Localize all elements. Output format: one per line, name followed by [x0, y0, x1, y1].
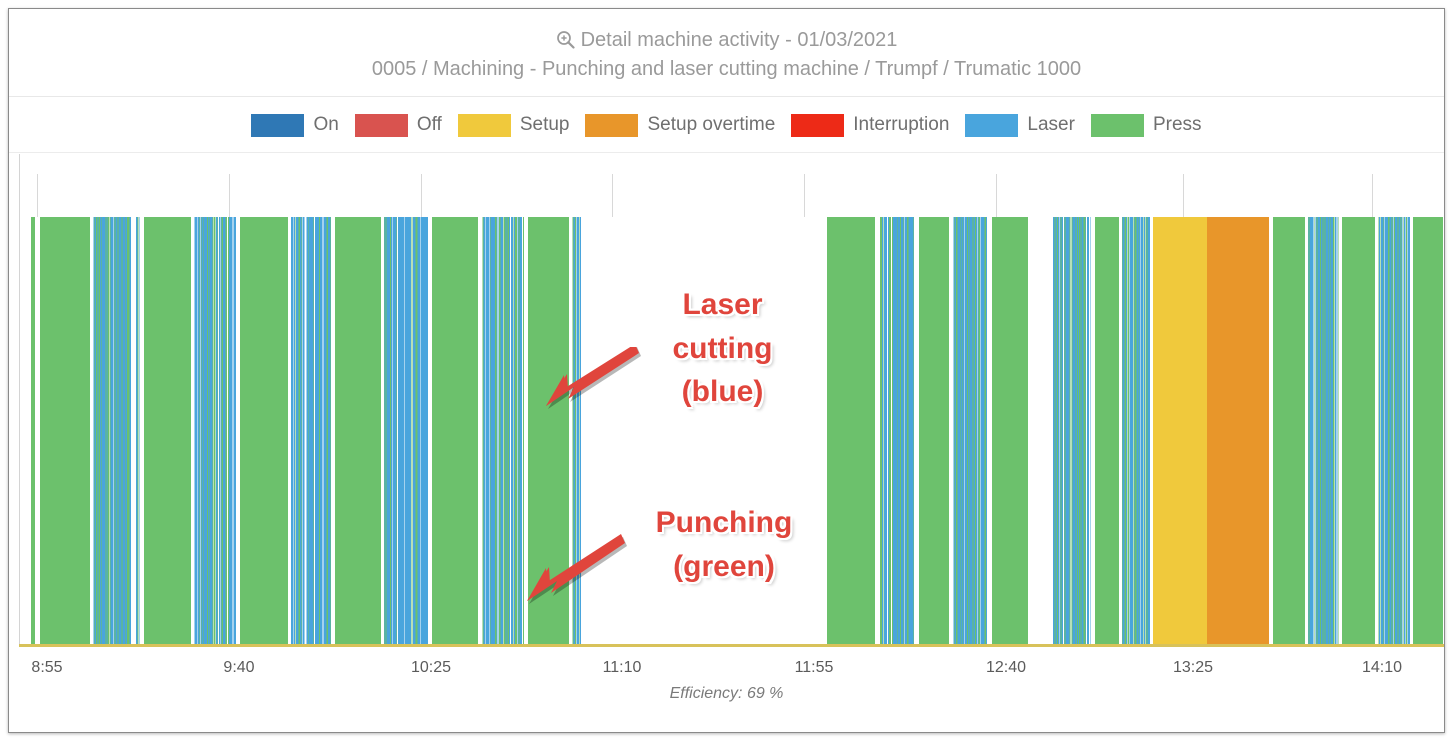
title-block: Detail machine activity - 01/03/2021 000… — [9, 9, 1444, 97]
timeline-segment-laser-press[interactable] — [194, 217, 236, 645]
timeline-segment-laser-press[interactable] — [953, 217, 987, 645]
timeline-segment-press[interactable] — [1413, 217, 1443, 645]
gridline — [1183, 174, 1184, 218]
timeline-segment-press[interactable] — [432, 217, 478, 645]
plot-area — [9, 154, 1444, 657]
timeline-segment-laser-press[interactable] — [93, 217, 131, 645]
x-axis-tick-label: 13:25 — [1173, 659, 1213, 677]
gridline — [804, 174, 805, 218]
timeline-segment-laser-press[interactable] — [384, 217, 428, 645]
legend-swatch-icon — [251, 114, 304, 137]
x-axis-baseline — [19, 644, 1444, 647]
timeline-segment-laser-press[interactable] — [572, 217, 581, 645]
timeline-bars — [19, 217, 1444, 645]
chart-window: Detail machine activity - 01/03/2021 000… — [8, 8, 1445, 733]
legend-item-interruption[interactable]: Interruption — [791, 114, 949, 137]
timeline-segment-press[interactable] — [919, 217, 949, 645]
legend-item-off[interactable]: Off — [355, 114, 442, 137]
x-axis-tick-label: 14:10 — [1362, 659, 1402, 677]
gridline — [229, 174, 230, 218]
timeline-segment-laser-press[interactable] — [291, 217, 331, 645]
chart-title-text: Detail machine activity - 01/03/2021 — [581, 29, 898, 51]
timeline-segment-idle[interactable] — [1028, 217, 1053, 645]
chart-title: Detail machine activity - 01/03/2021 — [9, 28, 1444, 55]
legend-label: Press — [1153, 114, 1202, 136]
legend-label: On — [313, 114, 338, 136]
timeline-segment-press[interactable] — [240, 217, 288, 645]
x-axis-tick-label: 11:10 — [603, 659, 642, 677]
x-axis-tick-label: 11:55 — [795, 659, 834, 677]
legend-item-on[interactable]: On — [251, 114, 338, 137]
chart-legend: OnOffSetupSetup overtimeInterruptionLase… — [9, 98, 1444, 153]
legend-label: Interruption — [853, 114, 949, 136]
timeline-segment-laser-press[interactable] — [1053, 217, 1091, 645]
timeline-segment-press[interactable] — [827, 217, 875, 645]
x-axis-tick-label: 8:55 — [31, 659, 62, 677]
timeline-segment-setup-overtime[interactable] — [1207, 217, 1269, 645]
legend-item-setup-overtime[interactable]: Setup overtime — [585, 114, 775, 137]
legend-swatch-icon — [791, 114, 844, 137]
zoom-in-icon[interactable] — [556, 30, 575, 55]
timeline-segment-laser-press[interactable] — [880, 217, 914, 645]
timeline-segment-press[interactable] — [1342, 217, 1375, 645]
timeline-segment-laser-press[interactable] — [1378, 217, 1410, 645]
legend-swatch-icon — [1091, 114, 1144, 137]
timeline-segment-idle[interactable] — [581, 217, 827, 645]
legend-swatch-icon — [355, 114, 408, 137]
timeline-segment-setup[interactable] — [1153, 217, 1207, 645]
x-axis-tick-label: 9:40 — [223, 659, 254, 677]
timeline-segment-press[interactable] — [335, 217, 381, 645]
timeline-segment-laser-press[interactable] — [481, 217, 524, 645]
legend-label: Laser — [1027, 114, 1075, 136]
efficiency-label: Efficiency: 69 % — [9, 685, 1444, 703]
legend-item-press[interactable]: Press — [1091, 114, 1202, 137]
legend-swatch-icon — [965, 114, 1018, 137]
legend-item-setup[interactable]: Setup — [458, 114, 570, 137]
timeline-segment-press[interactable] — [528, 217, 569, 645]
x-axis-tick-label: 12:40 — [986, 659, 1026, 677]
timeline-segment-press[interactable] — [1095, 217, 1119, 645]
timeline-segment-press[interactable] — [992, 217, 1028, 645]
legend-label: Off — [417, 114, 442, 136]
legend-label: Setup — [520, 114, 570, 136]
gridline — [996, 174, 997, 218]
legend-swatch-icon — [585, 114, 638, 137]
chart-subtitle: 0005 / Machining - Punching and laser cu… — [9, 57, 1444, 81]
legend-label: Setup overtime — [647, 114, 775, 136]
timeline-segment-press[interactable] — [40, 217, 90, 645]
x-axis-tick-label: 10:25 — [411, 659, 451, 677]
legend-item-laser[interactable]: Laser — [965, 114, 1075, 137]
gridline — [37, 174, 38, 218]
gridline — [1372, 174, 1373, 218]
timeline-segment-laser-press[interactable] — [1122, 217, 1150, 645]
legend-swatch-icon — [458, 114, 511, 137]
timeline-segment-press[interactable] — [144, 217, 191, 645]
gridline — [421, 174, 422, 218]
timeline-segment-laser-press[interactable] — [1308, 217, 1339, 645]
timeline-segment-press[interactable] — [1273, 217, 1305, 645]
gridline — [612, 174, 613, 218]
